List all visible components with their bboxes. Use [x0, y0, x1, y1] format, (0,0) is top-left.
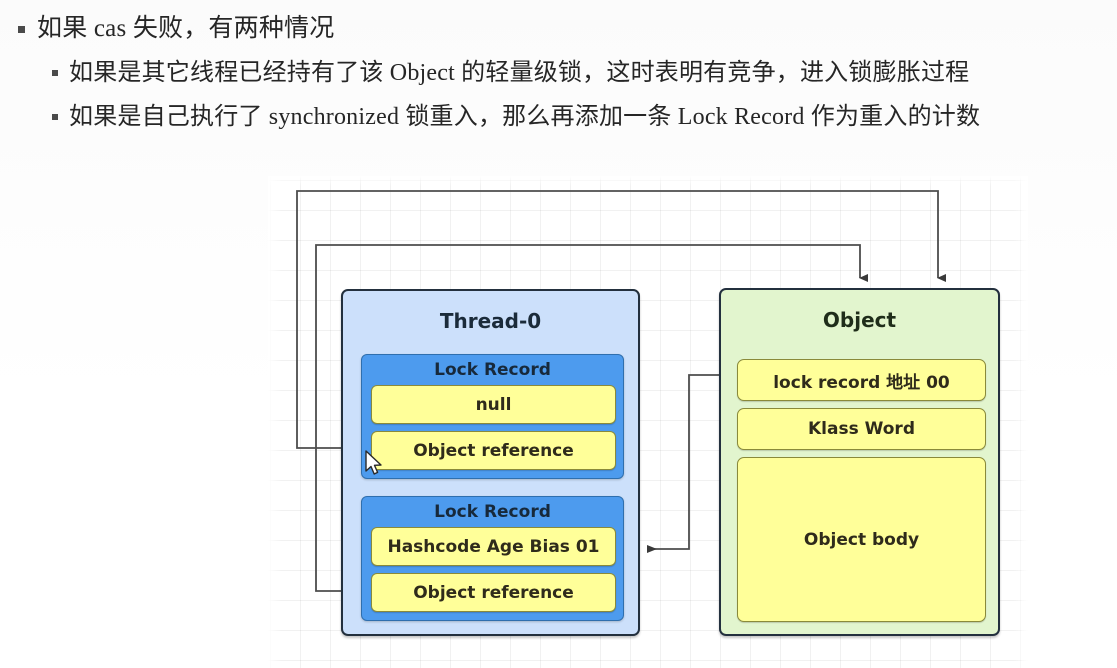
list-item: 如果是自己执行了 synchronized 锁重入，那么再添加一条 Lock R… — [0, 102, 1117, 132]
list-item: 如果是其它线程已经持有了该 Object 的轻量级锁，这时表明有竞争，进入锁膨胀… — [0, 58, 1117, 88]
lock-record-2[interactable]: Lock Record Hashcode Age Bias 01 Object … — [361, 496, 624, 621]
object-box-title: Object — [721, 308, 998, 332]
lock-record-1-slot-object-reference[interactable]: Object reference — [371, 431, 616, 470]
list-item: 如果 cas 失败，有两种情况 — [0, 14, 1117, 44]
lock-record-2-title: Lock Record — [362, 502, 623, 522]
slide-page: 如果 cas 失败，有两种情况 如果是其它线程已经持有了该 Object 的轻量… — [0, 0, 1117, 668]
lock-record-1[interactable]: Lock Record null Object reference — [361, 354, 624, 479]
lock-record-2-slot-markword[interactable]: Hashcode Age Bias 01 — [371, 527, 616, 566]
object-field-body[interactable]: Object body — [737, 457, 986, 622]
square-bullet-icon — [18, 26, 25, 33]
lock-record-1-title: Lock Record — [362, 360, 623, 380]
object-field-klass-word[interactable]: Klass Word — [737, 408, 986, 450]
list-item-label: 如果是其它线程已经持有了该 Object 的轻量级锁，这时表明有竞争，进入锁膨胀… — [69, 58, 969, 88]
lock-record-2-slot-object-reference[interactable]: Object reference — [371, 573, 616, 612]
object-box[interactable]: Object lock record 地址 00 Klass Word Obje… — [719, 288, 1000, 636]
object-field-mark-word[interactable]: lock record 地址 00 — [737, 359, 986, 401]
thread-box[interactable]: Thread-0 Lock Record null Object referen… — [341, 289, 640, 636]
square-bullet-icon — [52, 70, 58, 76]
lock-record-1-slot-markword[interactable]: null — [371, 385, 616, 424]
thread-box-title: Thread-0 — [343, 309, 638, 333]
bullet-list: 如果 cas 失败，有两种情况 如果是其它线程已经持有了该 Object 的轻量… — [0, 0, 1117, 132]
list-item-label: 如果是自己执行了 synchronized 锁重入，那么再添加一条 Lock R… — [69, 102, 980, 132]
list-item-label: 如果 cas 失败，有两种情况 — [37, 14, 334, 44]
square-bullet-icon — [52, 114, 58, 120]
